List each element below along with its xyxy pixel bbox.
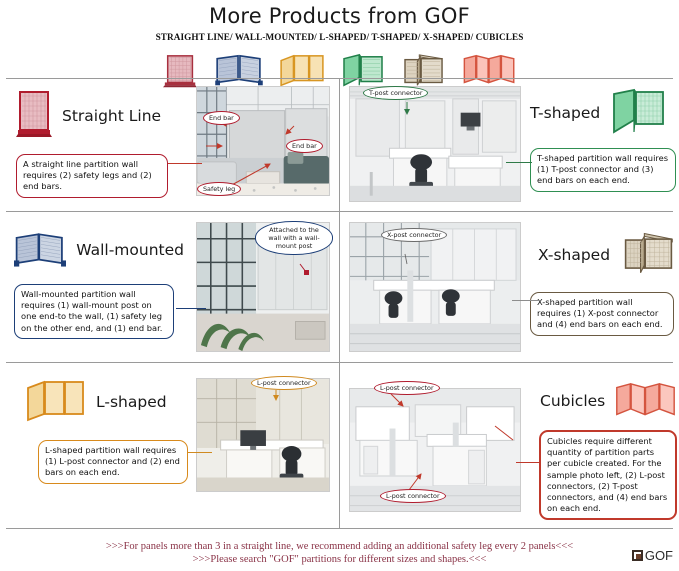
gof-mark-icon	[632, 550, 643, 561]
x-shaped-blurb-leader	[512, 300, 540, 301]
footer-line-2: >>>Please search "GOF" partitions for di…	[0, 554, 679, 565]
poster-root: More Products from GOF STRAIGHT LINE/ WA…	[0, 0, 679, 571]
callout-wall-mount-post: Attached to the wall with a wall-mount p…	[255, 221, 333, 255]
callout-l-post-connector-3: L-post connector	[380, 489, 446, 503]
straight-line-label: Straight Line	[62, 107, 161, 125]
straight-line-heading: Straight Line	[16, 90, 176, 142]
section-l-shaped: L-shaped L-shaped partition wall require…	[24, 378, 194, 484]
t-shaped-annotations	[345, 80, 525, 204]
grid-hline-1	[6, 211, 673, 212]
page-subtitle: STRAIGHT LINE/ WALL-MOUNTED/ L-SHAPED/ T…	[0, 32, 679, 42]
callout-end-bar-2: End bar	[286, 139, 323, 153]
t-shaped-icon	[610, 88, 666, 138]
x-shaped-icon	[620, 230, 678, 280]
t-shaped-blurb-leader	[506, 162, 532, 163]
wall-mounted-heading: Wall-mounted	[14, 228, 184, 272]
brand-name: GOF	[645, 548, 673, 563]
cubicles-blurb: Cubicles require different quantity of p…	[539, 430, 677, 520]
cubicles-icon	[615, 378, 678, 424]
x-shaped-label: X-shaped	[538, 246, 610, 264]
l-shaped-heading: L-shaped	[24, 378, 194, 426]
cubicles-blurb-leader	[516, 462, 540, 463]
page-title: More Products from GOF	[0, 0, 679, 28]
straight-line-icon	[16, 90, 52, 142]
wall-mounted-label: Wall-mounted	[76, 241, 184, 259]
callout-l-post-connector-2: L-post connector	[374, 381, 440, 395]
footer: >>>For panels more than 3 in a straight …	[0, 541, 679, 565]
l-shaped-blurb-leader	[188, 452, 212, 453]
callout-t-post-connector: T-post connector	[363, 86, 428, 100]
grid-hline-2	[6, 362, 673, 363]
brand-logo: GOF	[632, 548, 673, 563]
callout-l-post-connector-1: L-post connector	[251, 376, 317, 390]
wall-mounted-blurb: Wall-mounted partition wall requires (1)…	[14, 284, 174, 339]
footer-line-1: >>>For panels more than 3 in a straight …	[0, 541, 679, 552]
section-cubicles: Cubicles Cubicles require different quan…	[540, 378, 678, 520]
t-shaped-label: T-shaped	[530, 104, 600, 122]
x-shaped-heading: X-shaped	[538, 230, 678, 280]
callout-end-bar-1: End bar	[203, 111, 240, 125]
wall-mounted-blurb-leader	[176, 308, 206, 309]
cubicles-heading: Cubicles	[540, 378, 678, 424]
section-t-shaped: T-shaped T-shaped partition wall require…	[530, 88, 678, 192]
l-shaped-label: L-shaped	[96, 393, 167, 411]
wall-mounted-icon	[14, 228, 66, 272]
section-straight-line: Straight Line A straight line partition …	[16, 90, 176, 198]
t-shaped-heading: T-shaped	[530, 88, 678, 138]
l-shaped-blurb: L-shaped partition wall requires (1) L-p…	[38, 440, 188, 484]
callout-safety-leg: Safety leg	[197, 182, 241, 196]
x-shaped-blurb: X-shaped partition wall requires (1) X-p…	[530, 292, 674, 336]
straight-line-blurb: A straight line partition wall requires …	[16, 154, 168, 198]
straight-line-blurb-leader	[168, 163, 202, 164]
section-x-shaped: X-shaped X-shaped partition wall require…	[538, 230, 678, 336]
callout-x-post-connector: X-post connector	[381, 228, 447, 242]
l-shaped-icon	[24, 378, 86, 426]
grid-hline-top	[6, 78, 673, 79]
t-shaped-blurb: T-shaped partition wall requires (1) T-p…	[530, 148, 676, 192]
section-wall-mounted: Wall-mounted Wall-mounted partition wall…	[14, 228, 184, 339]
grid-hline-bottom	[6, 528, 673, 529]
cubicles-label: Cubicles	[540, 392, 605, 410]
